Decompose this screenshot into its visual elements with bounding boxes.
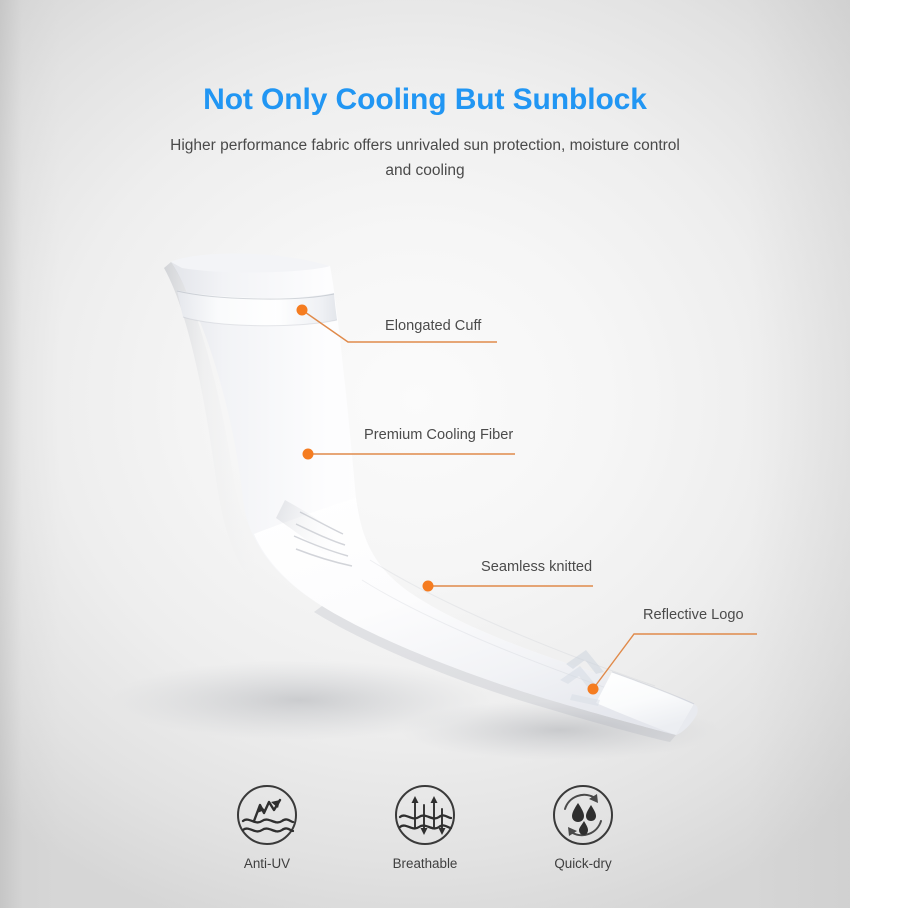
- feature-label-breathable: Breathable: [370, 856, 480, 871]
- feature-label-quick-dry: Quick-dry: [528, 856, 638, 871]
- quick-dry-icon: [551, 783, 615, 847]
- feature-anti-uv: Anti-UV: [212, 783, 322, 871]
- anti-uv-icon: [235, 783, 299, 847]
- leader-line-reflective-logo: [0, 0, 850, 908]
- feature-quick-dry: Quick-dry: [528, 783, 638, 871]
- feature-list: Anti-UV: [0, 783, 850, 871]
- feature-label-anti-uv: Anti-UV: [212, 856, 322, 871]
- callout-dot-reflective-logo: [588, 684, 599, 695]
- feature-breathable: Breathable: [370, 783, 480, 871]
- product-panel: Not Only Cooling But Sunblock Higher per…: [0, 0, 850, 908]
- callout-label-reflective-logo: Reflective Logo: [643, 607, 744, 623]
- breathable-icon: [393, 783, 457, 847]
- infographic-canvas: Not Only Cooling But Sunblock Higher per…: [0, 0, 908, 908]
